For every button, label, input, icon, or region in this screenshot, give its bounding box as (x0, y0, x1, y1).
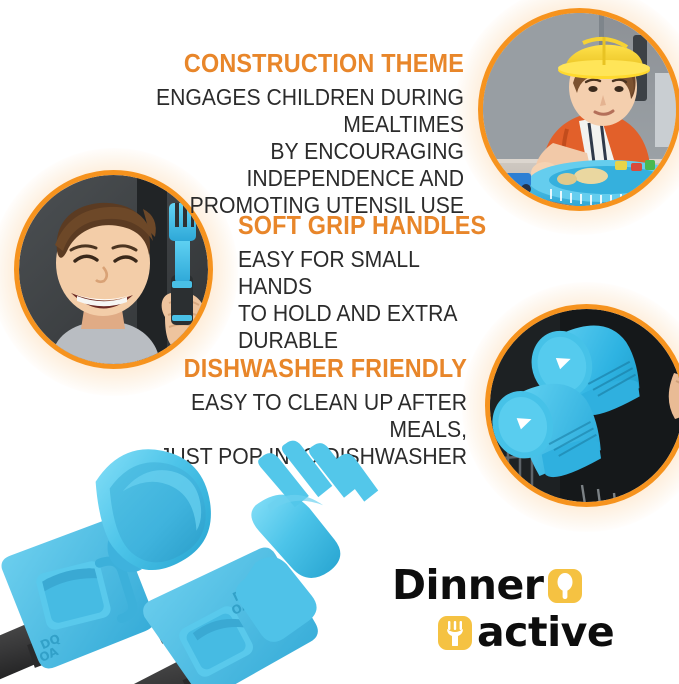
product-spoon-and-fork: DQ OA (0, 440, 390, 684)
spoon-glyph (554, 573, 576, 599)
infographic-canvas: CONSTRUCTION THEME ENGAGES CHILDREN DURI… (0, 0, 679, 684)
photo-construction-theme (478, 8, 679, 211)
illustration-dishwasher-utensils (490, 309, 679, 502)
feature-body-line: DURABLE (238, 327, 468, 354)
logo-row-top: Dinner (392, 562, 668, 609)
feature-body-line: TO HOLD AND EXTRA (238, 300, 468, 327)
brand-logo: Dinner active (392, 562, 668, 656)
feature-body-line: EASY TO CLEAN UP AFTER MEALS, (129, 389, 467, 443)
feature-body-construction-theme: ENGAGES CHILDREN DURING MEALTIMES BY ENC… (102, 84, 464, 219)
logo-word-active: active (477, 612, 614, 653)
feature-body-line: EASY FOR SMALL HANDS (238, 246, 468, 300)
logo-row-bottom: active (438, 609, 668, 656)
spoon-icon (548, 569, 582, 603)
photo-construction-theme-image (483, 13, 676, 206)
feature-body-line: ENGAGES CHILDREN DURING MEALTIMES (102, 84, 464, 138)
feature-body-soft-grip-handles: EASY FOR SMALL HANDS TO HOLD AND EXTRA D… (238, 246, 468, 354)
illustration-boy-hardhat (483, 13, 676, 206)
feature-heading-soft-grip-handles: SOFT GRIP HANDLES (238, 212, 463, 239)
photo-dishwasher-friendly-image (490, 309, 679, 502)
photo-dishwasher-friendly (485, 304, 679, 507)
feature-heading-dishwasher-friendly: DISHWASHER FRIENDLY (137, 355, 467, 382)
feature-body-line: BY ENCOURAGING INDEPENDENCE AND (102, 138, 464, 192)
feature-block-soft-grip-handles: SOFT GRIP HANDLES EASY FOR SMALL HANDS T… (238, 212, 488, 354)
logo-word-dinner: Dinner (392, 565, 544, 606)
illustration-utensil-pair: DQ OA (0, 440, 390, 684)
fork-icon (438, 616, 472, 650)
feature-block-construction-theme: CONSTRUCTION THEME ENGAGES CHILDREN DURI… (70, 50, 464, 219)
fork-glyph (444, 620, 466, 646)
feature-heading-construction-theme: CONSTRUCTION THEME (109, 50, 464, 77)
